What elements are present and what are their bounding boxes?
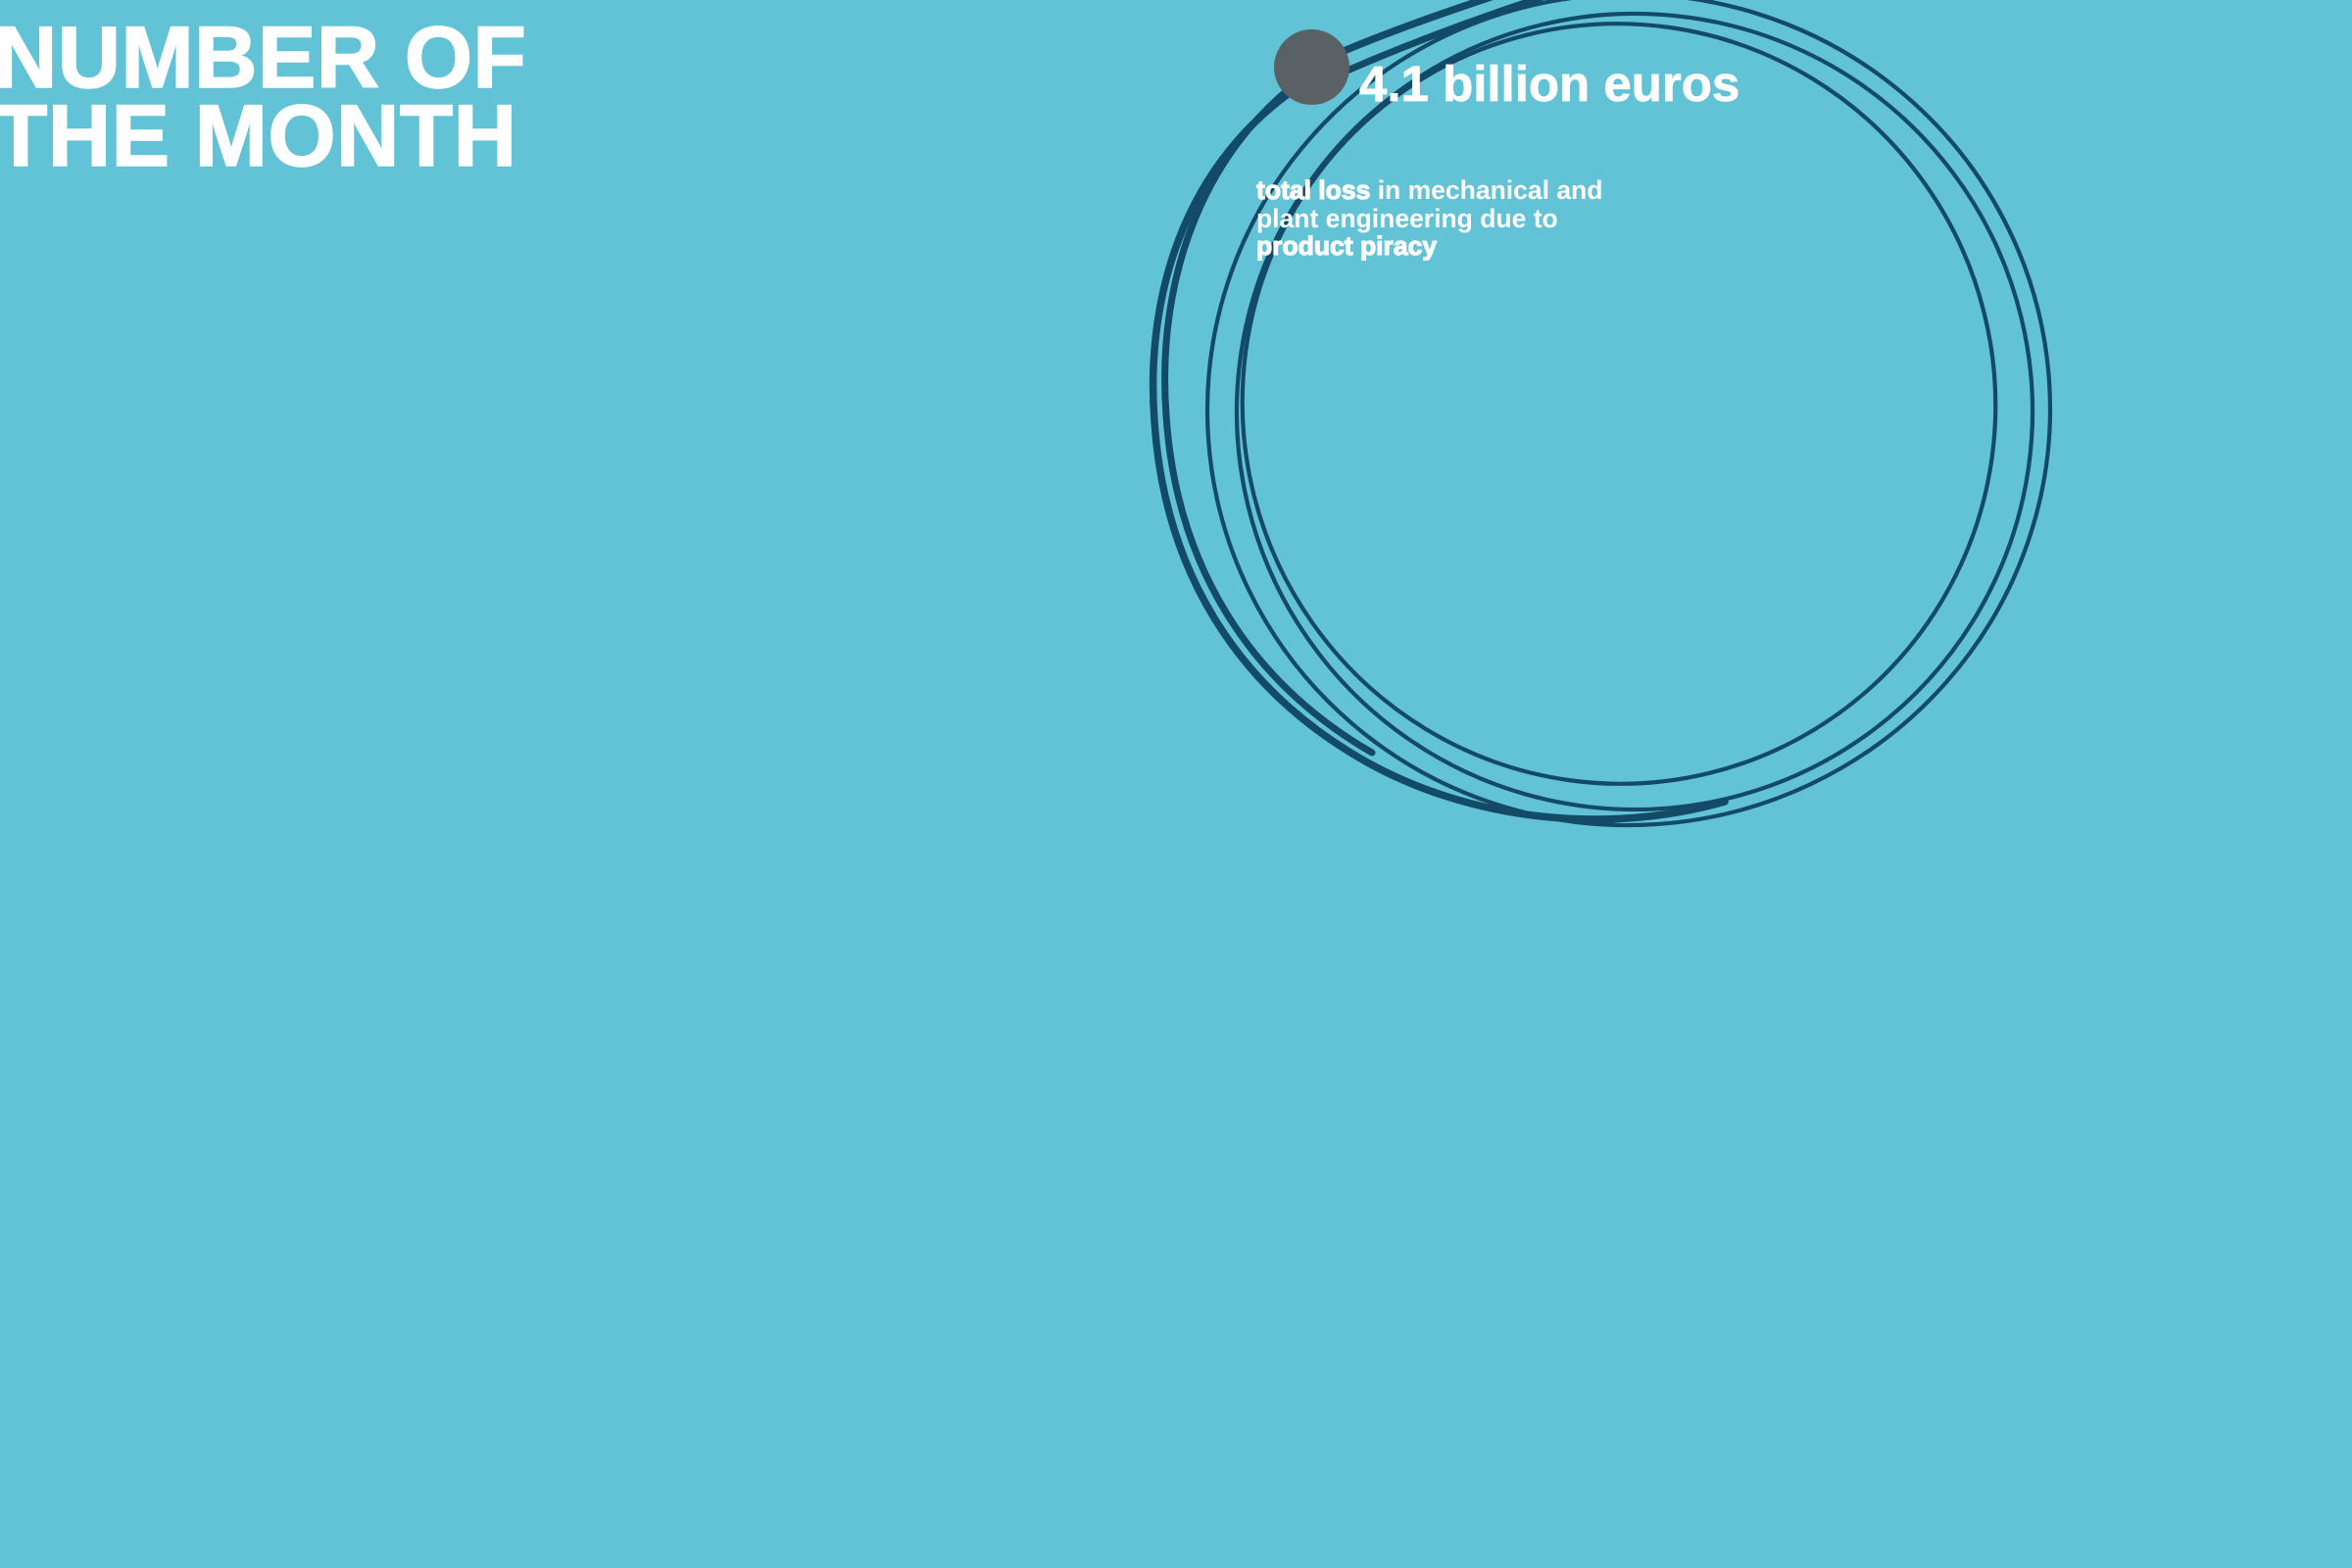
- slide-canvas: NUMBER OF THE MONTH 4.1 billion euros to…: [0, 0, 2352, 1568]
- stat-caption-text-1: in mechanical and: [1370, 175, 1602, 205]
- stat-caption: total loss in mechanical and plant engin…: [1256, 176, 1864, 261]
- sketch-circle-pen-stroke-2: [1165, 57, 1372, 753]
- stat-caption-line-1: total loss in mechanical and: [1256, 176, 1864, 205]
- sketch-circle-outer: [1179, 0, 2078, 854]
- page-title: NUMBER OF THE MONTH: [0, 18, 526, 174]
- sketch-circle-middle: [1185, 0, 2083, 861]
- sketch-stroke-tail-upper: [1321, 0, 1529, 61]
- sketch-circles-graphic: [0, 0, 2352, 1568]
- stat-caption-line-3: product piracy: [1256, 232, 1864, 261]
- stat-caption-emphasis-1: total loss: [1256, 175, 1370, 205]
- gray-marker-dot: [1274, 29, 1349, 105]
- stat-value: 4.1 billion euros: [1359, 57, 1739, 112]
- page-title-line-2: THE MONTH: [0, 96, 526, 174]
- page-title-line-1: NUMBER OF: [0, 18, 526, 96]
- stat-caption-line-2: plant engineering due to: [1256, 205, 1864, 233]
- sketch-circle-inner: [1162, 0, 2077, 863]
